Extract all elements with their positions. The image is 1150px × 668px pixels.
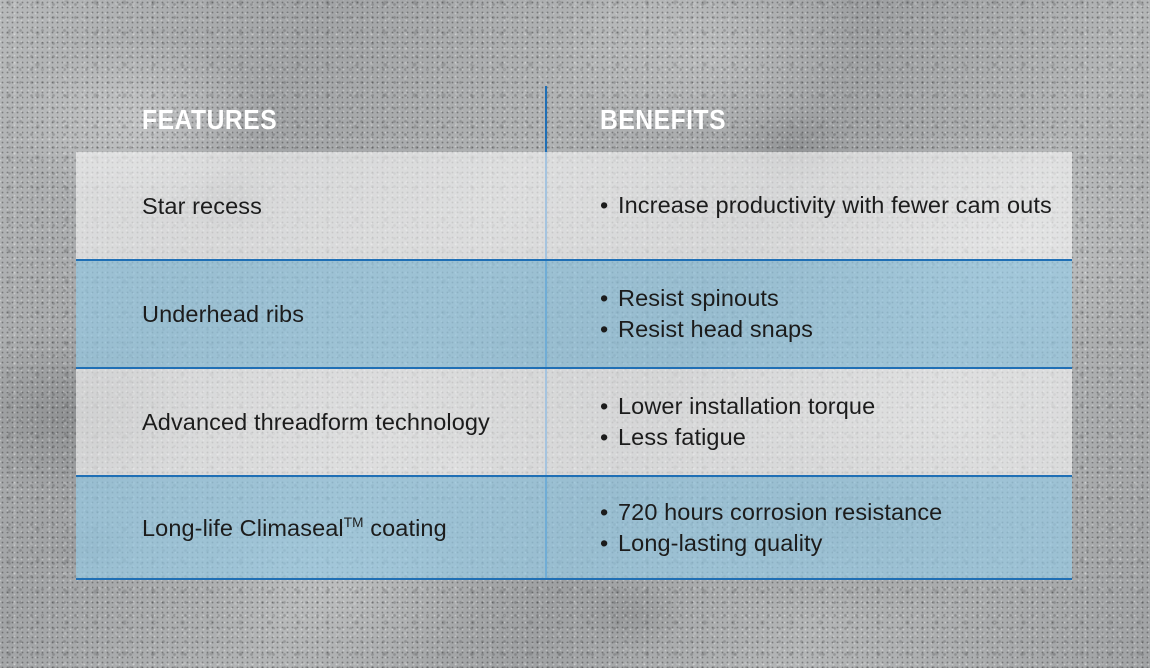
feature-label: Star recess	[142, 191, 262, 221]
column-header-features: FEATURES	[142, 104, 277, 136]
benefit-text: Less fatigue	[618, 424, 746, 450]
list-item: • Lower installation torque	[600, 392, 875, 421]
table-row: Long-life ClimasealTM coating • 720 hour…	[76, 475, 1072, 580]
benefit-text: Long-lasting quality	[618, 530, 823, 556]
list-item: • Resist spinouts	[600, 284, 813, 313]
bullet-icon: •	[600, 498, 608, 527]
trademark-symbol: TM	[344, 515, 364, 530]
benefit-text: Resist spinouts	[618, 285, 779, 311]
benefit-list: • Lower installation torque • Less fatig…	[600, 392, 875, 452]
benefit-cell: • Resist spinouts • Resist head snaps	[546, 261, 1072, 367]
bullet-icon: •	[600, 423, 608, 452]
list-item: • Resist head snaps	[600, 315, 813, 344]
bullet-icon: •	[600, 392, 608, 421]
list-item: • Less fatigue	[600, 423, 875, 452]
benefit-list: • Resist spinouts • Resist head snaps	[600, 284, 813, 344]
list-item: • Long-lasting quality	[600, 529, 942, 558]
benefit-cell: • Increase productivity with fewer cam o…	[546, 152, 1072, 259]
poster-canvas: FEATURES BENEFITS Star recess • Increase…	[0, 0, 1150, 668]
feature-label-suffix: coating	[364, 515, 447, 541]
feature-cell: Long-life ClimasealTM coating	[76, 477, 546, 578]
features-benefits-table: Star recess • Increase productivity with…	[76, 152, 1072, 580]
table-row: Star recess • Increase productivity with…	[76, 152, 1072, 259]
benefit-text: Lower installation torque	[618, 393, 875, 419]
list-item: • Increase productivity with fewer cam o…	[600, 191, 1052, 220]
list-item: • 720 hours corrosion resistance	[600, 498, 942, 527]
feature-cell: Star recess	[76, 152, 546, 259]
feature-label-prefix: Long-life Climaseal	[142, 515, 344, 541]
feature-label: Underhead ribs	[142, 299, 304, 329]
bullet-icon: •	[600, 315, 608, 344]
benefit-text: Increase productivity with fewer cam out…	[618, 192, 1052, 218]
column-header-benefits: BENEFITS	[600, 104, 726, 136]
benefit-list: • 720 hours corrosion resistance • Long-…	[600, 498, 942, 558]
benefit-cell: • 720 hours corrosion resistance • Long-…	[546, 477, 1072, 578]
table-row: Underhead ribs • Resist spinouts • Resis…	[76, 259, 1072, 369]
benefit-text: 720 hours corrosion resistance	[618, 499, 942, 525]
feature-cell: Advanced threadform technology	[76, 369, 546, 475]
bullet-icon: •	[600, 191, 608, 220]
feature-label: Advanced threadform technology	[142, 407, 490, 437]
benefit-text: Resist head snaps	[618, 316, 813, 342]
table-row: Advanced threadform technology • Lower i…	[76, 369, 1072, 475]
feature-label: Long-life ClimasealTM coating	[142, 513, 447, 543]
benefit-list: • Increase productivity with fewer cam o…	[600, 191, 1052, 220]
feature-cell: Underhead ribs	[76, 261, 546, 367]
bullet-icon: •	[600, 529, 608, 558]
bullet-icon: •	[600, 284, 608, 313]
benefit-cell: • Lower installation torque • Less fatig…	[546, 369, 1072, 475]
